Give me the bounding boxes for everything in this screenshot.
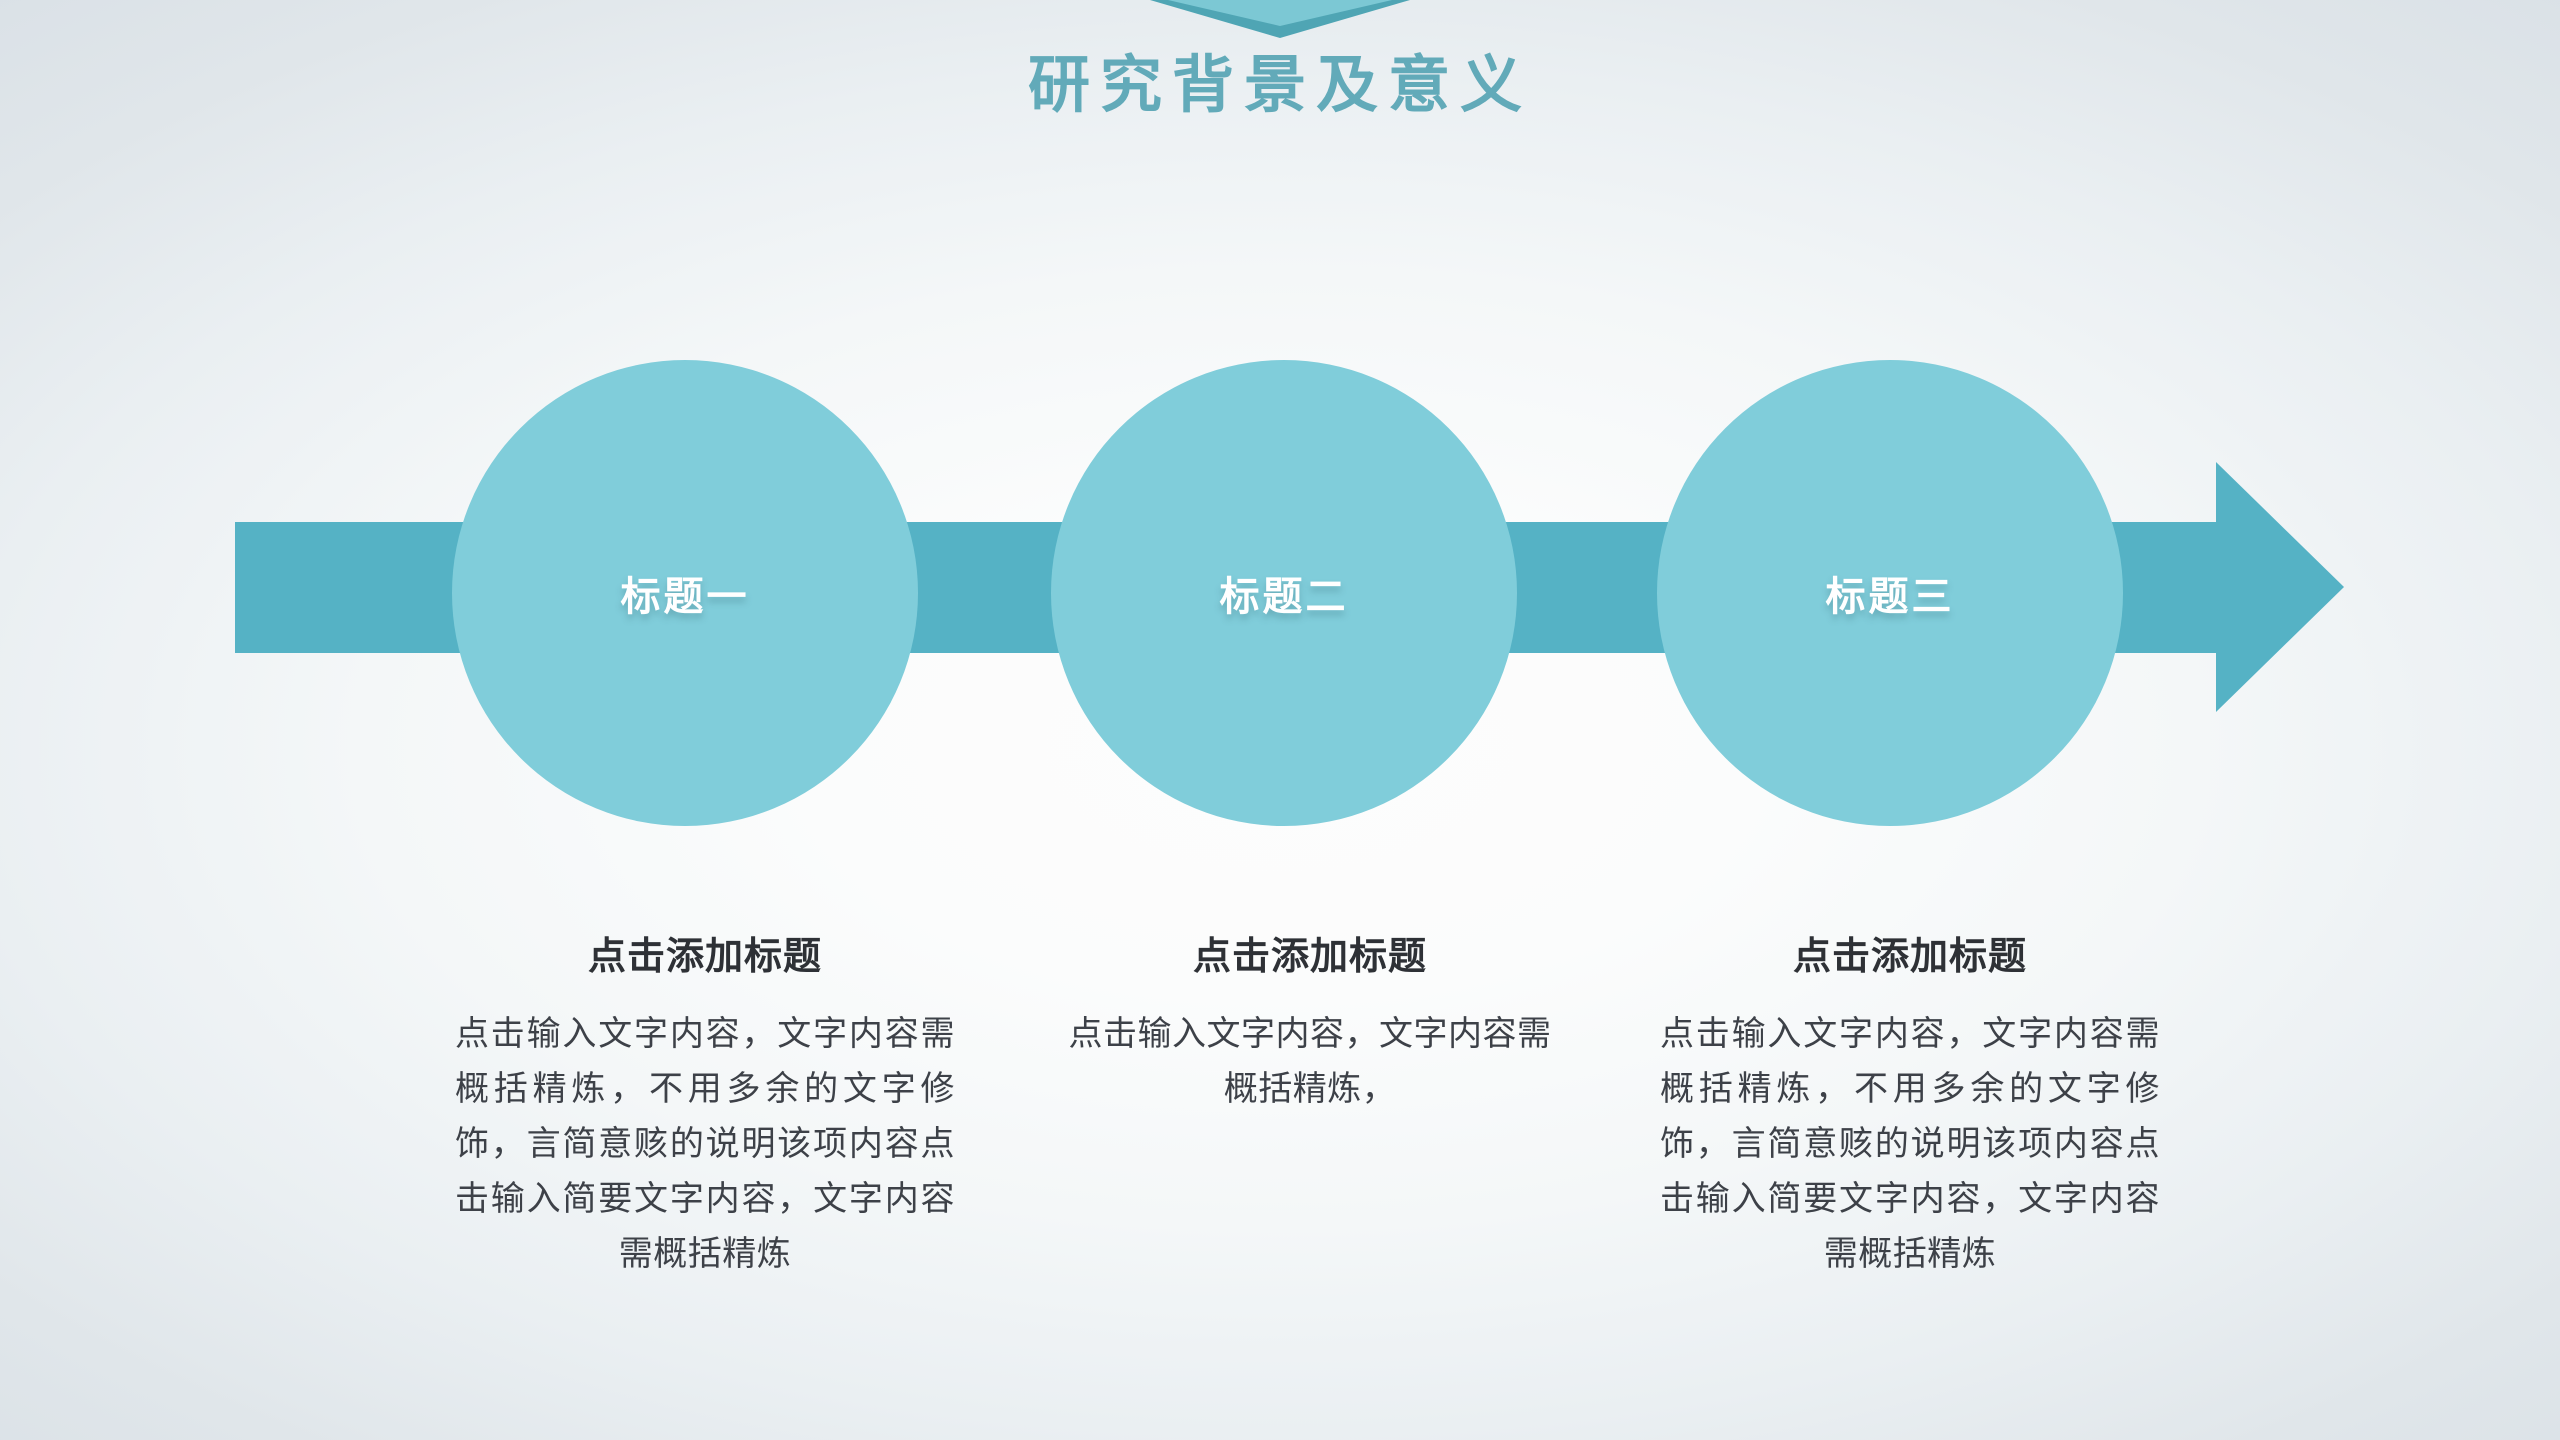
description-column-1: 点击添加标题 点击输入文字内容，文字内容需概括精炼，不用多余的文字修饰，言简意赅… bbox=[455, 935, 955, 1282]
step-circle-1[interactable]: 标题一 bbox=[452, 360, 918, 826]
column-heading-1[interactable]: 点击添加标题 bbox=[455, 935, 955, 981]
column-body-1[interactable]: 点击输入文字内容，文字内容需概括精炼，不用多余的文字修饰，言简意赅的说明该项内容… bbox=[455, 1007, 955, 1282]
description-column-2: 点击添加标题 点击输入文字内容，文字内容需概括精炼， bbox=[1060, 935, 1560, 1117]
step-circle-label-3: 标题三 bbox=[1826, 564, 1955, 622]
column-heading-2[interactable]: 点击添加标题 bbox=[1060, 935, 1560, 981]
column-body-3[interactable]: 点击输入文字内容，文字内容需概括精炼，不用多余的文字修饰，言简意赅的说明该项内容… bbox=[1660, 1007, 2160, 1282]
step-circle-label-1: 标题一 bbox=[621, 564, 750, 622]
column-body-2[interactable]: 点击输入文字内容，文字内容需概括精炼， bbox=[1060, 1007, 1560, 1117]
slide-canvas: 研究背景及意义 标题一 标题二 标题三 点击添加标题 点击输入文字内容，文字内容… bbox=[0, 0, 2560, 1440]
description-column-3: 点击添加标题 点击输入文字内容，文字内容需概括精炼，不用多余的文字修饰，言简意赅… bbox=[1660, 935, 2160, 1282]
column-heading-3[interactable]: 点击添加标题 bbox=[1660, 935, 2160, 981]
description-columns: 点击添加标题 点击输入文字内容，文字内容需概括精炼，不用多余的文字修饰，言简意赅… bbox=[0, 935, 2560, 1355]
step-circle-3[interactable]: 标题三 bbox=[1657, 360, 2123, 826]
step-circle-2[interactable]: 标题二 bbox=[1051, 360, 1517, 826]
step-circle-label-2: 标题二 bbox=[1220, 564, 1349, 622]
